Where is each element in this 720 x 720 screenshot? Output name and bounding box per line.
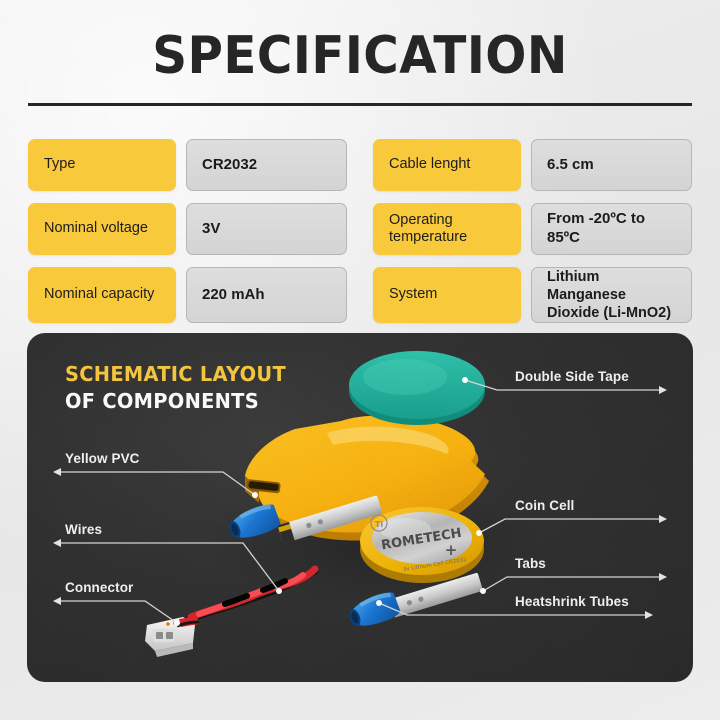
spec-label: Operating temperature <box>373 203 521 255</box>
callout-heatshrink-tubes: Heatshrink Tubes <box>515 594 629 609</box>
spec-row: Cable lenght 6.5 cm <box>373 139 692 191</box>
callout-wires: Wires <box>65 522 102 537</box>
spec-value: From -20ºC to 85ºC <box>531 203 692 255</box>
connector-part <box>145 616 199 657</box>
page-title: SPECIFICATION <box>25 26 695 86</box>
title-divider <box>28 103 692 106</box>
svg-text:Ti: Ti <box>375 520 383 529</box>
spec-label: Type <box>28 139 176 191</box>
exploded-view-illustration: ROMETECH + 3v Lithium Cell CR2032 Ti <box>27 333 693 682</box>
callout-yellow-pvc: Yellow PVC <box>65 451 140 466</box>
spec-label: System <box>373 267 521 323</box>
callout-coin-cell: Coin Cell <box>515 498 574 513</box>
double-side-tape-part <box>349 351 485 425</box>
spec-row: Operating temperature From -20ºC to 85ºC <box>373 203 692 255</box>
schematic-panel: SCHEMATIC LAYOUT OF COMPONENTS <box>27 333 693 682</box>
spec-row: Nominal capacity 220 mAh <box>28 267 347 323</box>
callout-double-side-tape: Double Side Tape <box>515 369 629 384</box>
spec-row: Nominal voltage 3V <box>28 203 347 255</box>
coin-cell-polarity-text: + <box>445 541 458 559</box>
spec-value: 3V <box>186 203 347 255</box>
spec-row: Type CR2032 <box>28 139 347 191</box>
spec-row: System Lithium Manganese Dioxide (Li-MnO… <box>373 267 692 323</box>
spec-value: 6.5 cm <box>531 139 692 191</box>
spec-label: Cable lenght <box>373 139 521 191</box>
callout-tabs: Tabs <box>515 556 546 571</box>
spec-label: Nominal capacity <box>28 267 176 323</box>
callout-connector: Connector <box>65 580 133 595</box>
coin-cell-part: ROMETECH + 3v Lithium Cell CR2032 Ti <box>360 507 484 583</box>
spec-label: Nominal voltage <box>28 203 176 255</box>
spec-value: Lithium Manganese Dioxide (Li-MnO2) <box>531 267 692 323</box>
specification-table: Type CR2032 Cable lenght 6.5 cm Nominal … <box>28 139 692 323</box>
spec-value: 220 mAh <box>186 267 347 323</box>
spec-value: CR2032 <box>186 139 347 191</box>
